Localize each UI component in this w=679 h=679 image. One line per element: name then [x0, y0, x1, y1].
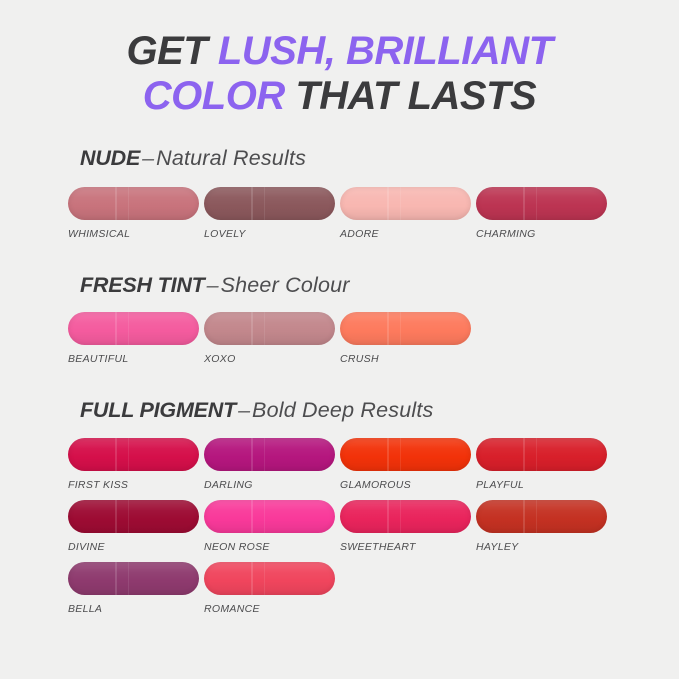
swatch-cell-crush[interactable]: CRUSH	[340, 312, 474, 365]
section-nude: NUDE–Natural Results WHIMSICAL	[0, 148, 679, 249]
swatch-label-hayley: HAYLEY	[476, 541, 610, 553]
swatch-edge	[340, 187, 471, 220]
swatch-edge	[68, 312, 199, 345]
swatch-edge	[68, 187, 199, 220]
swatch-label-whimsical: WHIMSICAL	[68, 228, 202, 240]
swatch-cell-glamorous[interactable]: GLAMOROUS	[340, 438, 474, 491]
section-header-fresh-tint: FRESH TINT–Sheer Colour	[0, 275, 679, 297]
swatch-edge	[68, 500, 199, 533]
swatch-charming[interactable]	[476, 187, 607, 220]
section-title-full-pigment: FULL PIGMENT	[80, 398, 236, 422]
swatch-edge	[340, 500, 471, 533]
swatch-edge	[204, 438, 335, 471]
swatch-label-playful: PLAYFUL	[476, 479, 610, 491]
swatch-cell-romance[interactable]: ROMANCE	[204, 562, 338, 615]
swatch-cell-beautiful[interactable]: BEAUTIFUL	[68, 312, 202, 365]
swatch-cell-darling[interactable]: DARLING	[204, 438, 338, 491]
swatch-cell-first-kiss[interactable]: FIRST KISS	[68, 438, 202, 491]
section-title-fresh-tint: FRESH TINT	[80, 273, 205, 297]
swatch-lovely[interactable]	[204, 187, 335, 220]
swatch-cell-lovely[interactable]: LOVELY	[204, 187, 338, 240]
swatch-cell-whimsical[interactable]: WHIMSICAL	[68, 187, 202, 240]
swatch-label-sweetheart: SWEETHEART	[340, 541, 474, 553]
swatch-cell-neon-rose[interactable]: NEON ROSE	[204, 500, 338, 553]
swatch-beautiful[interactable]	[68, 312, 199, 345]
swatch-cell-playful[interactable]: PLAYFUL	[476, 438, 610, 491]
swatch-cell-bella[interactable]: BELLA	[68, 562, 202, 615]
swatch-row: BELLA ROMANCE	[68, 562, 679, 624]
swatch-bella[interactable]	[68, 562, 199, 595]
swatch-edge	[204, 312, 335, 345]
swatch-crush[interactable]	[340, 312, 471, 345]
swatch-cell-divine[interactable]: DIVINE	[68, 500, 202, 553]
swatch-edge	[340, 312, 471, 345]
swatch-label-bella: BELLA	[68, 603, 202, 615]
headline-line-2: COLOR THAT LASTS	[0, 74, 679, 119]
swatch-label-beautiful: BEAUTIFUL	[68, 353, 202, 365]
swatch-edge	[476, 500, 607, 533]
headline-get: GET	[126, 29, 217, 73]
section-dash-full-pigment: –	[236, 398, 252, 422]
swatch-label-divine: DIVINE	[68, 541, 202, 553]
section-dash-nude: –	[140, 146, 156, 170]
section-subtitle-nude: Natural Results	[156, 146, 306, 170]
swatch-label-glamorous: GLAMOROUS	[340, 479, 474, 491]
section-fresh-tint: FRESH TINT–Sheer Colour BEAUTIFUL	[0, 275, 679, 375]
swatch-glamorous[interactable]	[340, 438, 471, 471]
swatch-xoxo[interactable]	[204, 312, 335, 345]
swatch-edge	[476, 438, 607, 471]
swatch-label-first-kiss: FIRST KISS	[68, 479, 202, 491]
swatch-adore[interactable]	[340, 187, 471, 220]
swatch-label-neon-rose: NEON ROSE	[204, 541, 338, 553]
swatch-edge	[204, 562, 335, 595]
swatch-label-darling: DARLING	[204, 479, 338, 491]
swatch-row: WHIMSICAL LOVELY	[68, 187, 679, 249]
swatch-romance[interactable]	[204, 562, 335, 595]
swatch-grid-nude: WHIMSICAL LOVELY	[0, 170, 679, 249]
swatch-cell-adore[interactable]: ADORE	[340, 187, 474, 240]
swatch-label-xoxo: XOXO	[204, 353, 338, 365]
swatch-sweetheart[interactable]	[340, 500, 471, 533]
section-full-pigment: FULL PIGMENT–Bold Deep Results FIRST KIS…	[0, 400, 679, 624]
swatch-edge	[68, 562, 199, 595]
section-dash-fresh-tint: –	[205, 273, 221, 297]
page-title: GET LUSH, BRILLIANT COLOR THAT LASTS	[0, 0, 679, 119]
headline-lush-brilliant: LUSH, BRILLIANT	[218, 29, 553, 73]
headline-color: COLOR	[143, 74, 285, 118]
swatch-row: BEAUTIFUL XOXO	[68, 312, 679, 374]
swatch-grid-full-pigment: FIRST KISS DARLING	[0, 422, 679, 624]
section-title-nude: NUDE	[80, 146, 140, 170]
swatch-label-lovely: LOVELY	[204, 228, 338, 240]
swatch-row: FIRST KISS DARLING	[68, 438, 679, 500]
swatch-cell-charming[interactable]: CHARMING	[476, 187, 610, 240]
swatch-edge	[204, 187, 335, 220]
shade-chart-page: GET LUSH, BRILLIANT COLOR THAT LASTS NUD…	[0, 0, 679, 679]
swatch-cell-hayley[interactable]: HAYLEY	[476, 500, 610, 553]
swatch-label-crush: CRUSH	[340, 353, 474, 365]
swatch-label-charming: CHARMING	[476, 228, 610, 240]
headline-that-lasts: THAT LASTS	[285, 74, 537, 118]
section-subtitle-full-pigment: Bold Deep Results	[252, 398, 433, 422]
swatch-label-romance: ROMANCE	[204, 603, 338, 615]
swatch-cell-xoxo[interactable]: XOXO	[204, 312, 338, 365]
swatch-hayley[interactable]	[476, 500, 607, 533]
swatch-edge	[204, 500, 335, 533]
swatch-first-kiss[interactable]	[68, 438, 199, 471]
swatch-neon-rose[interactable]	[204, 500, 335, 533]
swatch-cell-sweetheart[interactable]: SWEETHEART	[340, 500, 474, 553]
swatch-darling[interactable]	[204, 438, 335, 471]
section-header-nude: NUDE–Natural Results	[0, 148, 679, 170]
swatch-divine[interactable]	[68, 500, 199, 533]
swatch-edge	[340, 438, 471, 471]
swatch-edge	[68, 438, 199, 471]
shade-sections: NUDE–Natural Results WHIMSICAL	[0, 148, 679, 624]
swatch-playful[interactable]	[476, 438, 607, 471]
swatch-grid-fresh-tint: BEAUTIFUL XOXO	[0, 296, 679, 374]
section-subtitle-fresh-tint: Sheer Colour	[221, 273, 350, 297]
swatch-label-adore: ADORE	[340, 228, 474, 240]
headline-line-1: GET LUSH, BRILLIANT	[0, 29, 679, 74]
swatch-edge	[476, 187, 607, 220]
swatch-whimsical[interactable]	[68, 187, 199, 220]
swatch-row: DIVINE NEON ROSE	[68, 500, 679, 562]
section-header-full-pigment: FULL PIGMENT–Bold Deep Results	[0, 400, 679, 422]
